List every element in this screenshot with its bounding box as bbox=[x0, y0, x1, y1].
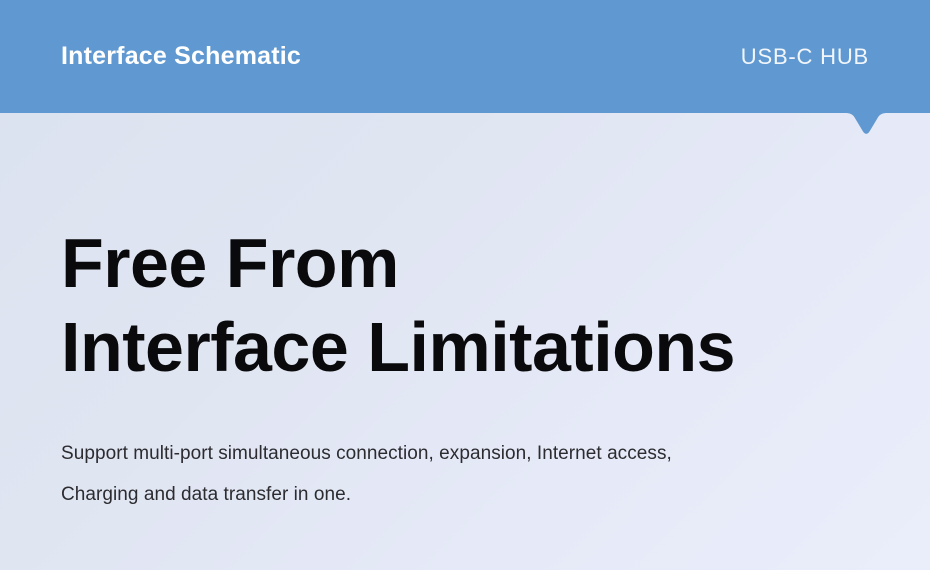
subheadline-line-2: Charging and data transfer in one. bbox=[61, 474, 672, 515]
subheadline-line-1: Support multi-port simultaneous connecti… bbox=[61, 433, 672, 474]
interface-schematic-banner: Interface Schematic USB-C HUB Free From … bbox=[0, 0, 930, 570]
headline: Free From Interface Limitations bbox=[61, 221, 735, 389]
subheadline: Support multi-port simultaneous connecti… bbox=[61, 433, 672, 515]
product-category-badge: USB-C HUB bbox=[741, 0, 869, 113]
header-bar: Interface Schematic USB-C HUB bbox=[0, 0, 930, 113]
page-title: Interface Schematic bbox=[61, 0, 301, 113]
downward-notch-icon bbox=[800, 110, 900, 136]
content-area: Free From Interface Limitations Support … bbox=[0, 113, 930, 570]
headline-line-1: Free From bbox=[61, 221, 735, 305]
headline-line-2: Interface Limitations bbox=[61, 305, 735, 389]
